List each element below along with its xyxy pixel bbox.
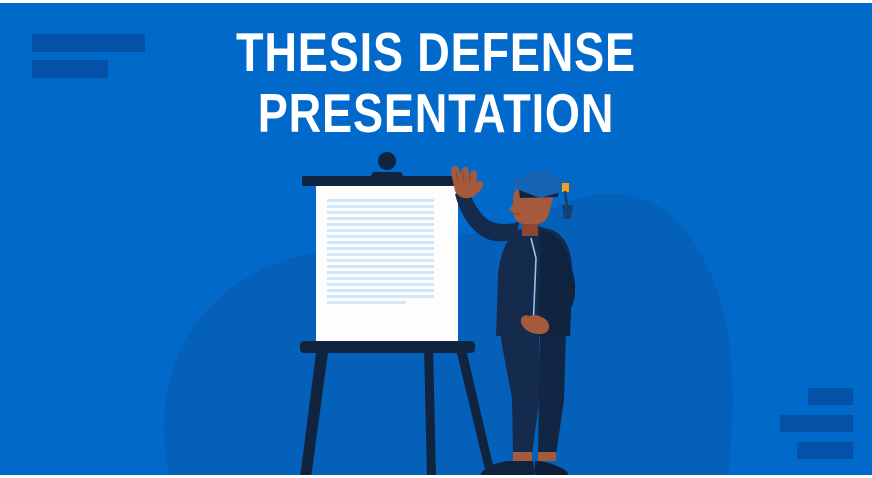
board-text-line <box>327 199 434 202</box>
easel-top-bar <box>302 176 472 186</box>
board-text-line <box>327 253 434 256</box>
figure-neck <box>522 222 538 236</box>
board-text-line <box>327 211 434 214</box>
tassel-tuft <box>562 205 573 219</box>
board-text-line <box>327 247 434 250</box>
graduate-figure <box>451 166 580 477</box>
board-text-line <box>327 277 434 280</box>
board-text-lines <box>327 199 434 307</box>
board-text-line <box>327 271 434 274</box>
figure-ankle-right <box>538 452 556 461</box>
slide-title: THESIS DEFENSE PRESENTATION <box>0 22 872 144</box>
board-text-line <box>327 259 434 262</box>
board-text-line <box>327 205 434 208</box>
figure-ankle-left <box>513 452 532 461</box>
title-line-2: PRESENTATION <box>78 83 793 144</box>
board-text-line <box>327 265 434 268</box>
board-text-line <box>327 217 434 220</box>
board-text-line <box>327 283 434 286</box>
slide-top-edge <box>0 0 872 3</box>
presentation-slide: THESIS DEFENSE PRESENTATION <box>0 0 872 478</box>
title-line-1: THESIS DEFENSE <box>78 22 793 83</box>
cap-button <box>562 183 569 192</box>
figure-leg-left <box>501 330 540 455</box>
tassel-cord <box>565 191 567 206</box>
figure-nose <box>509 204 513 212</box>
board-text-line <box>327 223 434 226</box>
board-text-line <box>327 295 434 298</box>
board-text-line <box>327 235 434 238</box>
easel-legs <box>300 345 496 478</box>
board-text-line <box>327 229 434 232</box>
board-text-line <box>327 289 434 292</box>
board-text-line <box>327 301 406 304</box>
board-text-line <box>327 241 434 244</box>
easel-bottom-bar <box>300 341 475 353</box>
easel-knob <box>369 152 405 180</box>
figure-leg-right <box>538 330 566 455</box>
